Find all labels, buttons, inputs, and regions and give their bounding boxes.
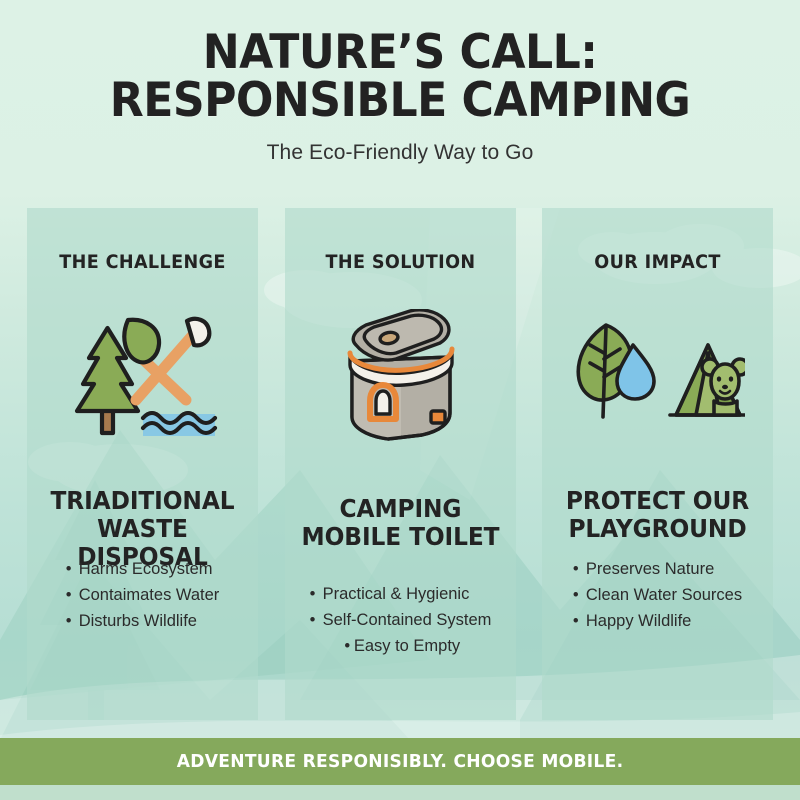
page-subtitle: The Eco-Friendly Way to Go — [0, 141, 800, 165]
leaf-droplet-tent-bear-icon — [542, 304, 773, 454]
list-item-label: Practical & Hygienic — [323, 585, 470, 603]
bullet-marker: • — [310, 607, 323, 633]
footer-banner: ADVENTURE RESPONISIBLY. CHOOSE MOBILE. — [0, 738, 800, 785]
title-line-2: RESPONSIBLE CAMPING — [24, 77, 776, 125]
column-heading-solution: CAMPING MOBILE TOILET — [291, 495, 510, 551]
list-item: •Disturbs Wildlife — [66, 608, 220, 634]
list-item: •Clean Water Sources — [573, 582, 742, 608]
list-item: •Happy Wildlife — [573, 608, 742, 634]
list-item-label: Harms Ecosystem — [79, 560, 213, 578]
heading-line-1: PROTECT OUR — [566, 486, 749, 515]
list-item-label: Happy Wildlife — [586, 612, 691, 630]
header: NATURE’S CALL: RESPONSIBLE CAMPING The E… — [0, 0, 800, 165]
bullet-marker: • — [310, 581, 323, 607]
list-item: •Easy to Empty — [310, 633, 492, 659]
bullet-marker: • — [573, 608, 586, 634]
list-item-label: Clean Water Sources — [586, 586, 742, 604]
column-card-challenge: THE CHALLENGE — [27, 208, 258, 720]
list-item: •Contaimates Water — [66, 582, 220, 608]
portable-toilet-icon — [285, 304, 516, 454]
column-label-impact: OUR IMPACT — [548, 252, 767, 273]
bullet-marker: • — [573, 582, 586, 608]
footer-tagline: ADVENTURE RESPONISIBLY. CHOOSE MOBILE. — [177, 751, 624, 772]
column-heading-impact: PROTECT OUR PLAYGROUND — [548, 487, 767, 543]
list-item: •Preserves Nature — [573, 556, 742, 582]
page-title: NATURE’S CALL: RESPONSIBLE CAMPING — [24, 0, 776, 125]
heading-line-2: PLAYGROUND — [568, 514, 746, 543]
bullet-marker: • — [341, 633, 354, 659]
list-item: •Practical & Hygienic — [310, 581, 492, 607]
list-item: •Harms Ecosystem — [66, 556, 220, 582]
column-label-challenge: THE CHALLENGE — [33, 252, 252, 273]
column-card-solution: THE SOLUTION — [285, 208, 516, 720]
bullet-list-impact: •Preserves Nature •Clean Water Sources •… — [542, 556, 773, 634]
list-item-label: Easy to Empty — [354, 637, 460, 655]
list-item-label: Preserves Nature — [586, 560, 714, 578]
footer-bottom-strip — [0, 785, 800, 800]
list-item-label: Disturbs Wildlife — [79, 612, 197, 630]
bullet-list-solution: •Practical & Hygienic •Self-Contained Sy… — [285, 581, 516, 659]
heading-line-1: TRIADITIONAL — [51, 486, 235, 515]
list-item-label: Self-Contained System — [323, 611, 492, 629]
list-item: •Self-Contained System — [310, 607, 492, 633]
title-line-1: NATURE’S CALL: — [203, 25, 598, 80]
bullet-marker: • — [66, 556, 79, 582]
column-label-solution: THE SOLUTION — [291, 252, 510, 273]
list-item-label: Contaimates Water — [79, 586, 220, 604]
column-card-impact: OUR IMPACT — [542, 208, 773, 720]
infographic-canvas: NATURE’S CALL: RESPONSIBLE CAMPING The E… — [0, 0, 800, 800]
heading-line-2: MOBILE TOILET — [302, 522, 500, 551]
bullet-list-challenge: •Harms Ecosystem •Contaimates Water •Dis… — [27, 556, 258, 634]
tree-shovel-water-icon — [27, 304, 258, 454]
heading-line-1: CAMPING — [340, 494, 462, 523]
bullet-marker: • — [66, 608, 79, 634]
bullet-marker: • — [573, 556, 586, 582]
bullet-marker: • — [66, 582, 79, 608]
